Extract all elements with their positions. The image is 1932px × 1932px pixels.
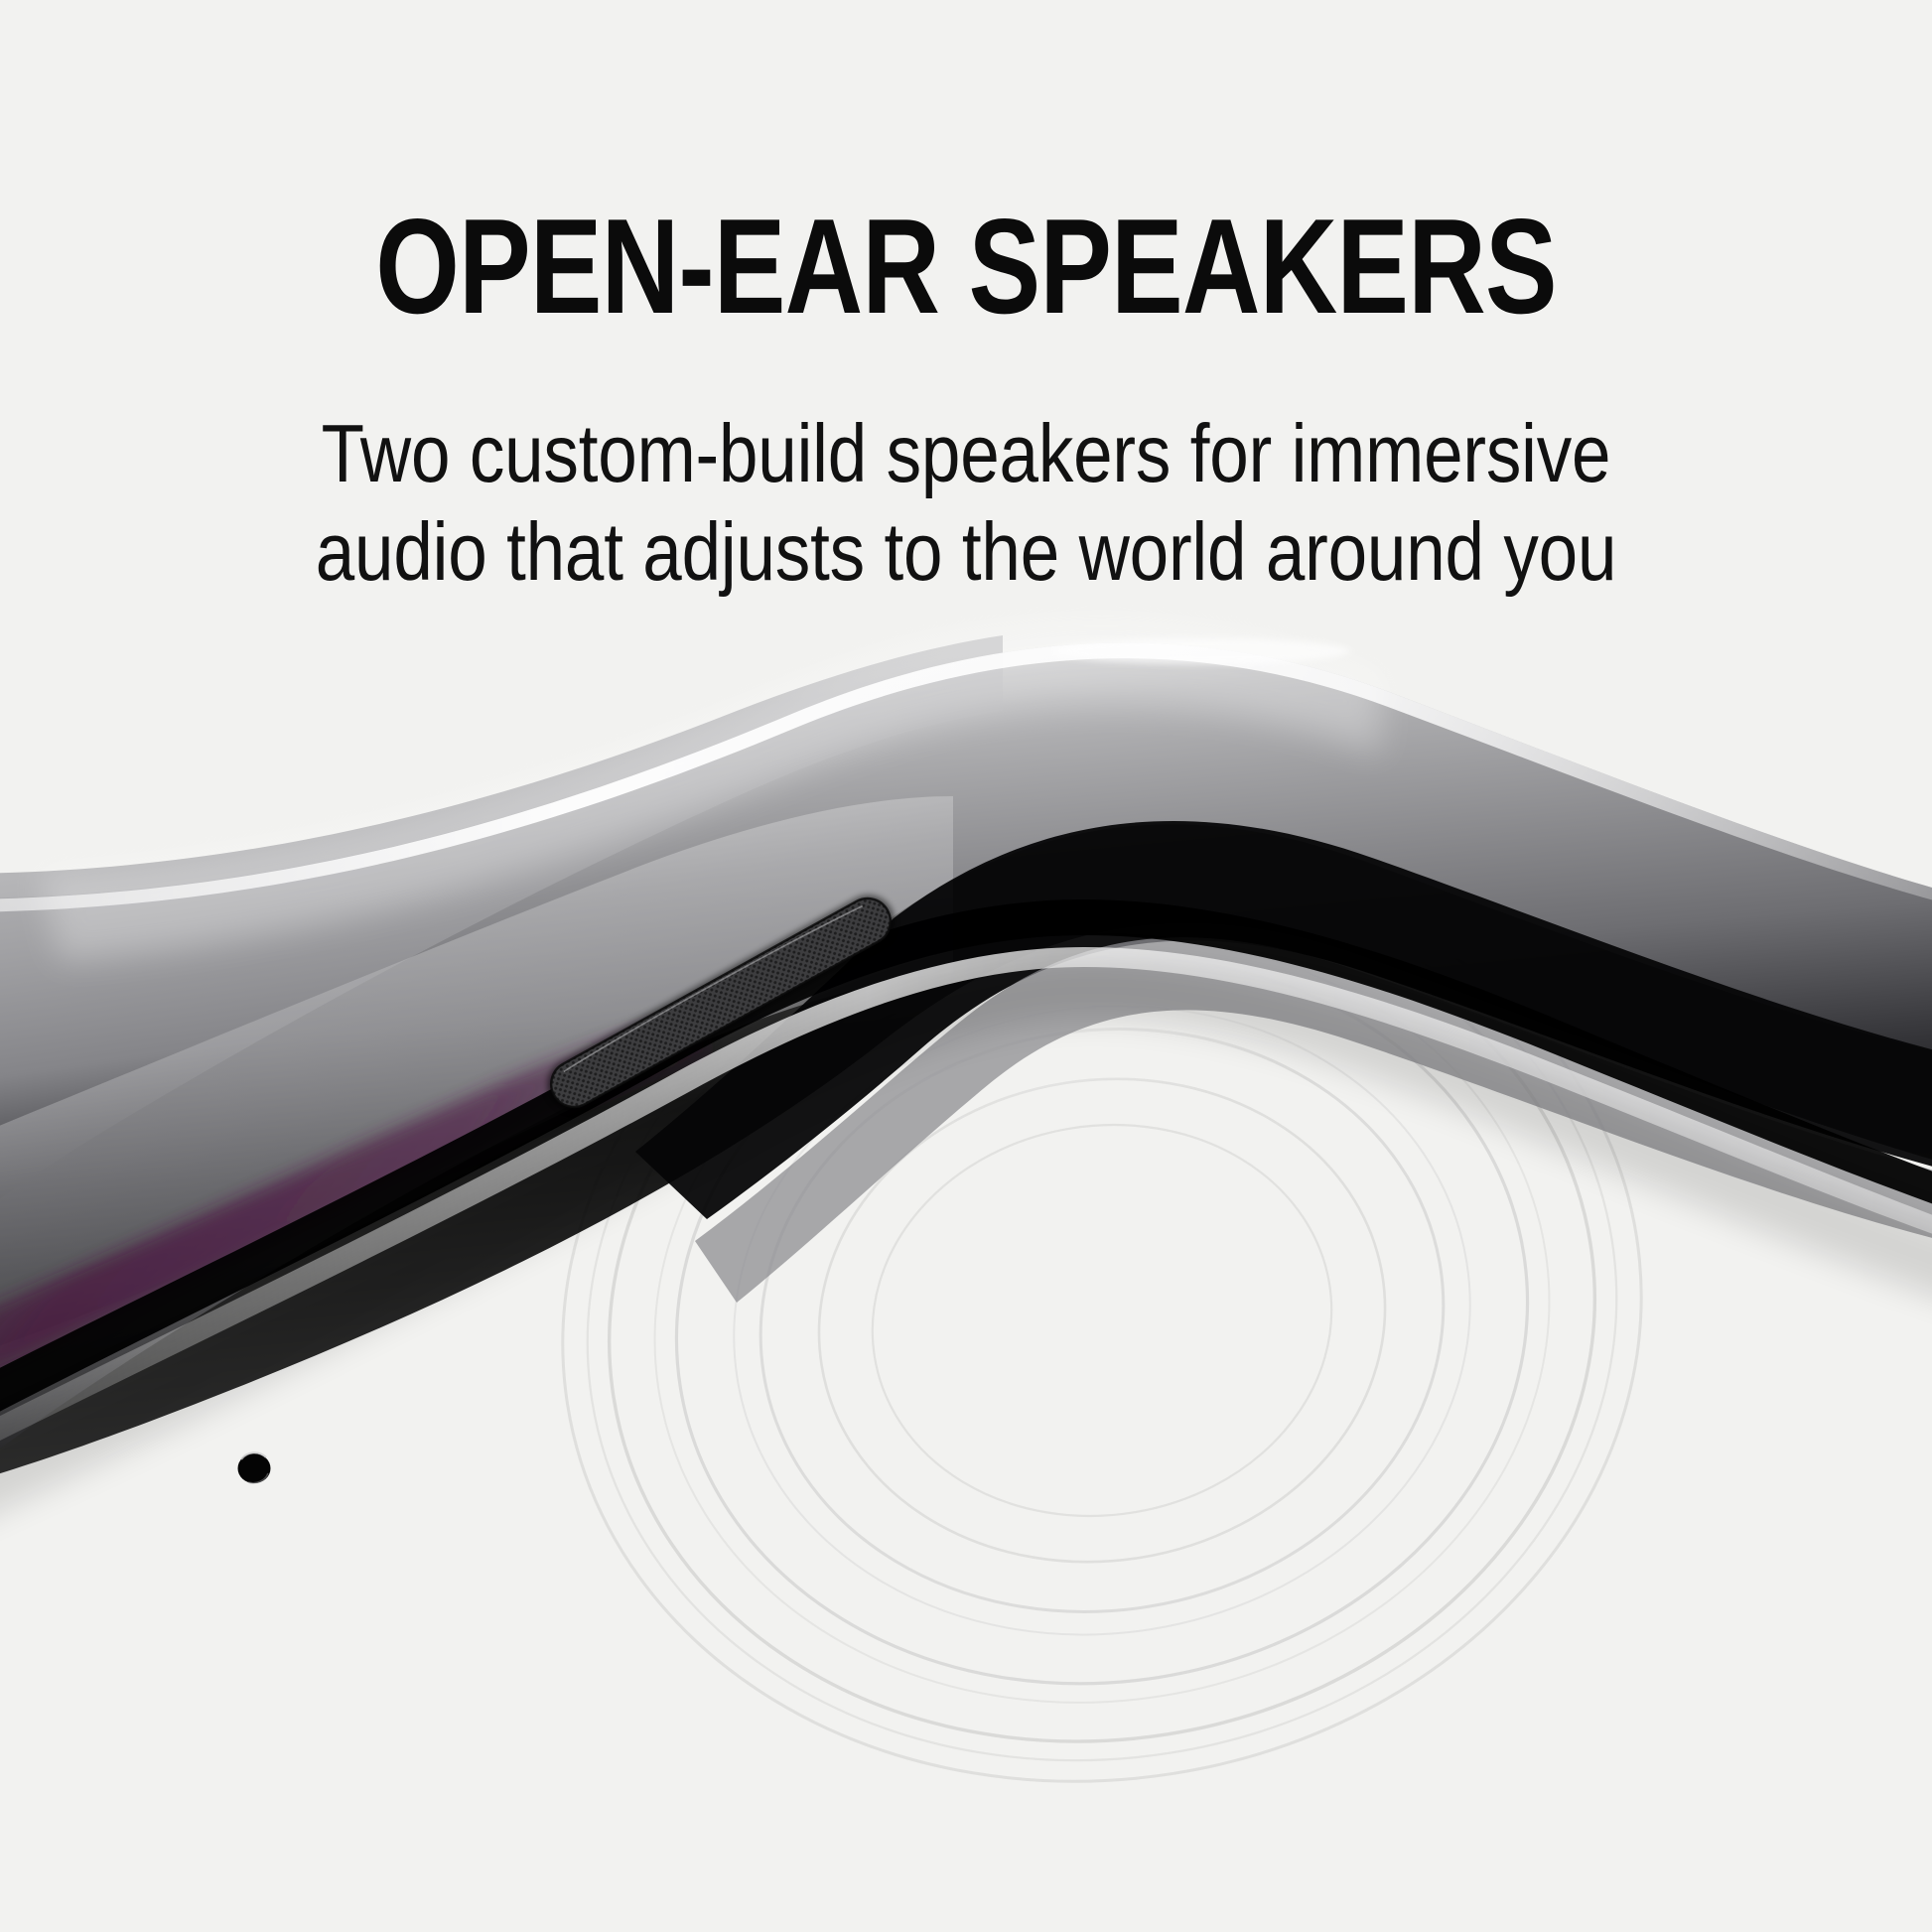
crest-specular bbox=[1052, 638, 1350, 664]
microphone-hole bbox=[238, 1452, 271, 1483]
subtitle-line-1: Two custom-build speakers for immersive bbox=[140, 405, 1792, 503]
subtitle-line-2: audio that adjusts to the world around y… bbox=[140, 503, 1792, 602]
page-title: OPEN-EAR SPEAKERS bbox=[194, 199, 1739, 334]
product-feature-card: OPEN-EAR SPEAKERS Two custom-build speak… bbox=[0, 0, 1932, 1932]
subtitle: Two custom-build speakers for immersive … bbox=[140, 405, 1792, 602]
